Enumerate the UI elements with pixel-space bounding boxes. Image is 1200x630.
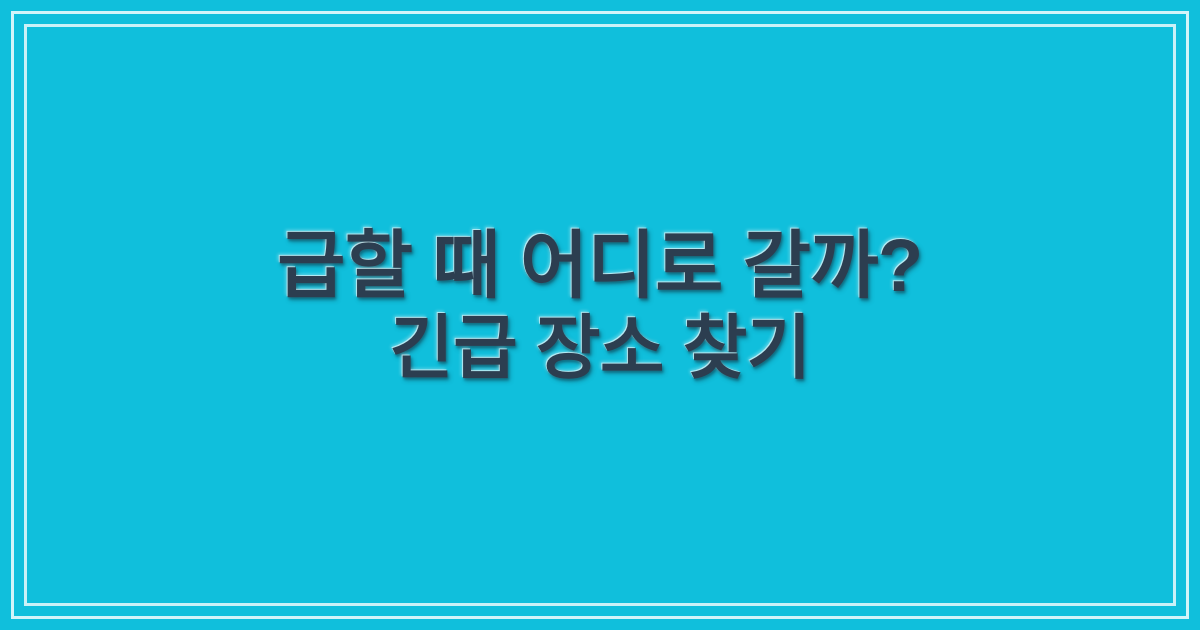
headline-line-2: 긴급 장소 찾기	[60, 309, 1140, 387]
banner-card: 급할 때 어디로 갈까? 긴급 장소 찾기	[0, 0, 1200, 630]
headline-line-1: 급할 때 어디로 갈까?	[60, 227, 1140, 305]
headline-block: 급할 때 어디로 갈까? 긴급 장소 찾기	[0, 227, 1200, 388]
